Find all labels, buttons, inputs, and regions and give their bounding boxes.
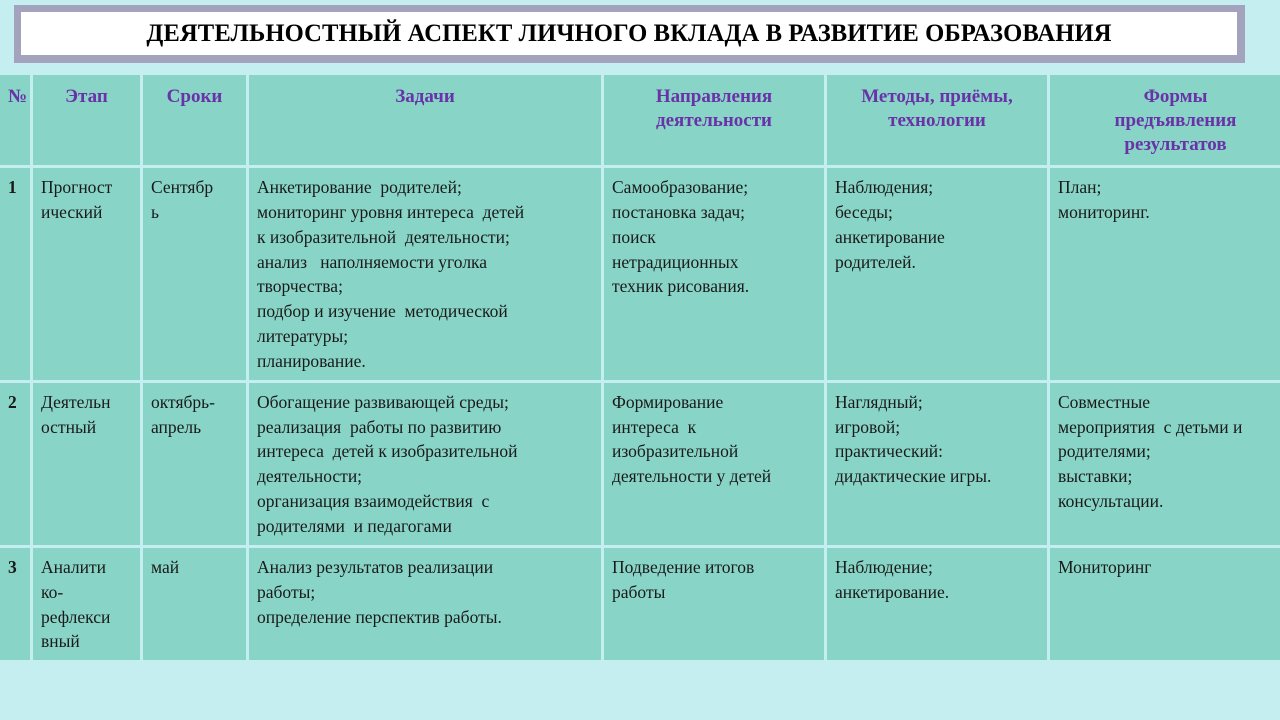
cell-methods: Наблюдения;беседы;анкетированиеродителей… [827, 168, 1047, 380]
cell-forms: Мониторинг [1050, 548, 1280, 660]
column-header-terms: Сроки [143, 75, 246, 165]
cell-number: 1 [0, 168, 30, 380]
column-header-forms: Формы предъявления результатов [1050, 75, 1280, 165]
column-header-directions: Направления деятельности [604, 75, 824, 165]
table-row: 3 Аналити ко- рефлекси вный май Анализ р… [0, 548, 1280, 660]
table-row: 1 Прогност ический Сентябр ь Анкетирован… [0, 168, 1280, 380]
cell-terms: Сентябр ь [143, 168, 246, 380]
table-body: 1 Прогност ический Сентябр ь Анкетирован… [0, 168, 1280, 660]
column-header-tasks: Задачи [249, 75, 601, 165]
table-header: № Этап Сроки Задачи Направления деятельн… [0, 75, 1280, 165]
table-row: 2 Деятельн остный октябрь- апрель Обогащ… [0, 383, 1280, 545]
column-header-stage: Этап [33, 75, 140, 165]
column-header-methods: Методы, приёмы, технологии [827, 75, 1047, 165]
cell-forms: План;мониторинг. [1050, 168, 1280, 380]
cell-methods: Наглядный;игровой;практический:дидактиче… [827, 383, 1047, 545]
cell-terms: май [143, 548, 246, 660]
cell-tasks: Анализ результатов реализацииработы;опре… [249, 548, 601, 660]
cell-forms: Совместныемероприятия с детьми иродителя… [1050, 383, 1280, 545]
cell-stage: Деятельн остный [33, 383, 140, 545]
cell-number: 2 [0, 383, 30, 545]
column-header-number: № [0, 75, 30, 165]
cell-directions: Формированиеинтереса кизобразительнойдея… [604, 383, 824, 545]
cell-number: 3 [0, 548, 30, 660]
cell-directions: Подведение итоговработы [604, 548, 824, 660]
cell-stage: Прогност ический [33, 168, 140, 380]
cell-tasks: Анкетирование родителей;мониторинг уровн… [249, 168, 601, 380]
activity-plan-table: № Этап Сроки Задачи Направления деятельн… [0, 72, 1280, 663]
title-banner-box: ДЕЯТЕЛЬНОСТНЫЙ АСПЕКТ ЛИЧНОГО ВКЛАДА В Р… [21, 12, 1237, 55]
cell-tasks: Обогащение развивающей среды;реализация … [249, 383, 601, 545]
cell-directions: Самообразование;постановка задач;поискне… [604, 168, 824, 380]
title-banner-frame: ДЕЯТЕЛЬНОСТНЫЙ АСПЕКТ ЛИЧНОГО ВКЛАДА В Р… [14, 5, 1245, 63]
cell-methods: Наблюдение;анкетирование. [827, 548, 1047, 660]
table-header-row: № Этап Сроки Задачи Направления деятельн… [0, 75, 1280, 165]
cell-terms: октябрь- апрель [143, 383, 246, 545]
page-title: ДЕЯТЕЛЬНОСТНЫЙ АСПЕКТ ЛИЧНОГО ВКЛАДА В Р… [146, 21, 1111, 46]
cell-stage: Аналити ко- рефлекси вный [33, 548, 140, 660]
activity-plan-table-wrap: № Этап Сроки Задачи Направления деятельн… [0, 75, 1280, 663]
